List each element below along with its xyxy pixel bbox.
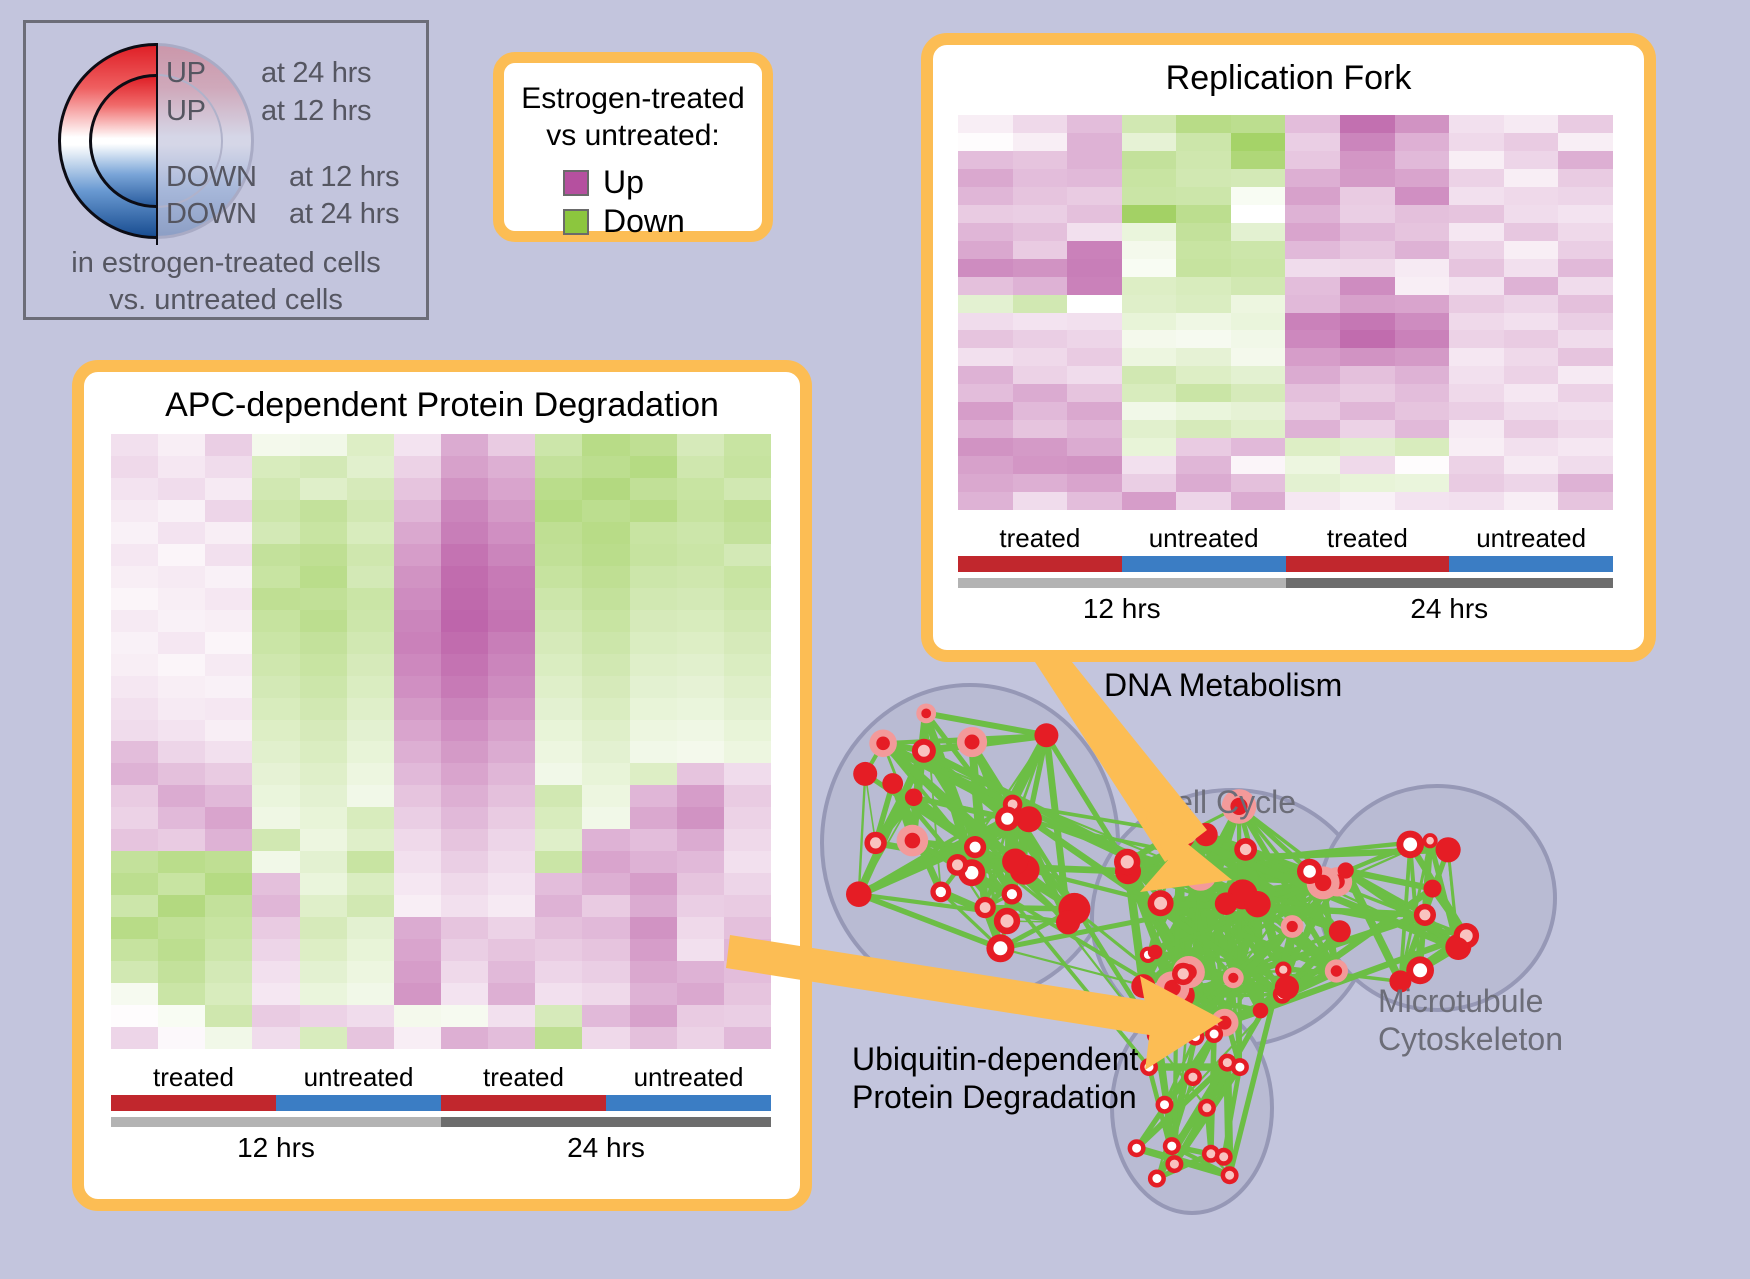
heatmap-cell bbox=[1067, 384, 1122, 402]
heatmap-cell bbox=[347, 1005, 394, 1027]
heatmap-cell bbox=[300, 720, 347, 742]
heatmap-cell bbox=[582, 763, 629, 785]
heatmap-cell bbox=[205, 500, 252, 522]
heatmap-cell bbox=[488, 676, 535, 698]
swatch-up-icon bbox=[563, 170, 589, 196]
heatmap-cell bbox=[158, 741, 205, 763]
heatmap-cell bbox=[582, 1027, 629, 1049]
heatmap-cell bbox=[441, 566, 488, 588]
swatch-down-icon bbox=[563, 209, 589, 235]
heatmap-cell bbox=[347, 654, 394, 676]
heatmap-cell bbox=[488, 873, 535, 895]
heatmap-apc-degradation bbox=[111, 434, 771, 1049]
heatmap-cell bbox=[394, 1027, 441, 1049]
heatmap-cell bbox=[1395, 205, 1450, 223]
heatmap-cell bbox=[1231, 492, 1286, 510]
heatmap-cell bbox=[1122, 115, 1177, 133]
heatmap-cell bbox=[1122, 420, 1177, 438]
heatmap-cell bbox=[158, 939, 205, 961]
network-node[interactable] bbox=[1287, 921, 1298, 932]
heatmap-cell bbox=[394, 676, 441, 698]
colorwheel-term-up-12: UP bbox=[166, 95, 206, 128]
heatmap-cell bbox=[394, 763, 441, 785]
heatmap-cell bbox=[488, 807, 535, 829]
heatmap-cell bbox=[677, 917, 724, 939]
heatmap-cell bbox=[630, 544, 677, 566]
heatmap-cell bbox=[111, 522, 158, 544]
axis-time-bar-rf-0 bbox=[958, 578, 1286, 588]
heatmap-cell bbox=[1395, 474, 1450, 492]
heatmap-cell bbox=[677, 478, 724, 500]
heatmap-cell bbox=[347, 939, 394, 961]
heatmap-cell bbox=[1558, 366, 1613, 384]
legend-item-up: Up bbox=[563, 164, 703, 201]
heatmap-cell bbox=[441, 807, 488, 829]
heatmap-cell bbox=[1504, 384, 1559, 402]
heatmap-cell bbox=[1013, 384, 1068, 402]
heatmap-cell bbox=[1340, 366, 1395, 384]
network-node[interactable] bbox=[1148, 945, 1163, 960]
heatmap-cell bbox=[535, 983, 582, 1005]
axis-time-label-apc-0: 12 hrs bbox=[111, 1132, 441, 1164]
heatmap-cell bbox=[1176, 492, 1231, 510]
heatmap-cell bbox=[158, 500, 205, 522]
heatmap-cell bbox=[394, 785, 441, 807]
heatmap-cell bbox=[1340, 474, 1395, 492]
heatmap-cell bbox=[1176, 187, 1231, 205]
heatmap-cell bbox=[1231, 241, 1286, 259]
network-node[interactable] bbox=[1228, 973, 1238, 983]
legend-item-up-label: Up bbox=[603, 164, 703, 201]
heatmap-cell bbox=[630, 698, 677, 720]
heatmap-cell bbox=[158, 676, 205, 698]
heatmap-cell bbox=[252, 500, 299, 522]
heatmap-cell bbox=[347, 720, 394, 742]
heatmap-cell bbox=[394, 632, 441, 654]
network-node-core bbox=[1145, 1063, 1154, 1072]
heatmap-cell bbox=[724, 961, 771, 983]
heatmap-cell bbox=[441, 500, 488, 522]
network-node[interactable] bbox=[905, 789, 923, 807]
heatmap-cell bbox=[111, 961, 158, 983]
heatmap-cell bbox=[252, 829, 299, 851]
heatmap-cell bbox=[582, 961, 629, 983]
heatmap-cell bbox=[958, 348, 1013, 366]
network-node-core bbox=[1202, 1103, 1211, 1112]
network-node-core bbox=[1219, 1152, 1228, 1161]
heatmap-cell bbox=[630, 961, 677, 983]
heatmap-cell bbox=[724, 807, 771, 829]
heatmap-cell bbox=[1395, 115, 1450, 133]
heatmap-cell bbox=[1013, 187, 1068, 205]
network-node[interactable] bbox=[1275, 975, 1299, 999]
heatmap-cell bbox=[300, 500, 347, 522]
heatmap-cell bbox=[111, 456, 158, 478]
heatmap-cell bbox=[1285, 384, 1340, 402]
heatmap-cell bbox=[1395, 277, 1450, 295]
heatmap-cell bbox=[252, 632, 299, 654]
heatmap-cell bbox=[441, 654, 488, 676]
network-node[interactable] bbox=[853, 762, 877, 786]
network-node[interactable] bbox=[1056, 910, 1080, 934]
heatmap-cell bbox=[630, 895, 677, 917]
heatmap-cell bbox=[1067, 133, 1122, 151]
heatmap-cell bbox=[582, 741, 629, 763]
heatmap-cell bbox=[582, 698, 629, 720]
heatmap-cell bbox=[252, 654, 299, 676]
heatmap-cell bbox=[1231, 366, 1286, 384]
updown-legend-title: Estrogen-treated vs untreated: bbox=[504, 81, 762, 154]
heatmap-cell bbox=[1176, 348, 1231, 366]
heatmap-cell bbox=[158, 1027, 205, 1049]
network-node[interactable] bbox=[921, 709, 931, 719]
heatmap-cell bbox=[205, 610, 252, 632]
panel-replication-fork-title: Replication Fork bbox=[933, 59, 1644, 98]
heatmap-cell bbox=[582, 851, 629, 873]
heatmap-cell bbox=[205, 654, 252, 676]
heatmap-cell bbox=[1176, 384, 1231, 402]
network-node[interactable] bbox=[882, 773, 903, 794]
heatmap-cell bbox=[582, 632, 629, 654]
heatmap-cell bbox=[958, 474, 1013, 492]
heatmap-cell bbox=[1013, 402, 1068, 420]
heatmap-cell bbox=[1395, 295, 1450, 313]
heatmap-cell bbox=[1231, 115, 1286, 133]
colorwheel-legend: UP at 24 hrs UP at 12 hrs DOWN at 12 hrs… bbox=[23, 20, 429, 320]
heatmap-cell bbox=[205, 961, 252, 983]
heatmap-cell bbox=[1558, 313, 1613, 331]
heatmap-cell bbox=[630, 456, 677, 478]
colorwheel-footer-line2: vs. untreated cells bbox=[26, 282, 426, 319]
heatmap-cell bbox=[488, 939, 535, 961]
heatmap-cell bbox=[1504, 295, 1559, 313]
colorwheel-time-down-24: at 24 hrs bbox=[289, 198, 399, 231]
network-node-core bbox=[1419, 909, 1430, 920]
heatmap-cell bbox=[677, 676, 724, 698]
heatmap-cell bbox=[724, 983, 771, 1005]
heatmap-cell bbox=[724, 676, 771, 698]
heatmap-cell bbox=[724, 895, 771, 917]
network-node[interactable] bbox=[1034, 723, 1058, 747]
heatmap-cell bbox=[535, 851, 582, 873]
heatmap-cell bbox=[1285, 295, 1340, 313]
heatmap-cell bbox=[394, 939, 441, 961]
axis-group-bar-rf bbox=[958, 556, 1613, 572]
heatmap-cell bbox=[347, 983, 394, 1005]
network-node[interactable] bbox=[1194, 823, 1217, 846]
heatmap-cell bbox=[958, 187, 1013, 205]
heatmap-cell bbox=[535, 720, 582, 742]
heatmap-cell bbox=[1013, 295, 1068, 313]
network-node[interactable] bbox=[876, 737, 890, 751]
heatmap-cell bbox=[1504, 205, 1559, 223]
heatmap-cell bbox=[1231, 295, 1286, 313]
heatmap-cell bbox=[1558, 223, 1613, 241]
heatmap-cell bbox=[300, 1027, 347, 1049]
heatmap-cell bbox=[347, 917, 394, 939]
heatmap-cell bbox=[205, 939, 252, 961]
heatmap-cell bbox=[158, 917, 205, 939]
heatmap-cell bbox=[205, 720, 252, 742]
cluster-label-ubiquitin-degradation: Ubiquitin-dependent Protein Degradation bbox=[852, 1040, 1138, 1117]
heatmap-cell bbox=[1449, 295, 1504, 313]
heatmap-cell bbox=[488, 522, 535, 544]
updown-legend-title-line1: Estrogen-treated bbox=[504, 81, 762, 118]
network-node[interactable] bbox=[965, 735, 980, 750]
colorwheel-time-down-12: at 12 hrs bbox=[289, 161, 399, 194]
heatmap-cell bbox=[441, 785, 488, 807]
heatmap-cell bbox=[630, 1005, 677, 1027]
heatmap-cell bbox=[300, 588, 347, 610]
heatmap-cell bbox=[347, 785, 394, 807]
network-node[interactable] bbox=[846, 881, 872, 907]
heatmap-cell bbox=[724, 829, 771, 851]
heatmap-cell bbox=[441, 610, 488, 632]
heatmap-cell bbox=[252, 939, 299, 961]
heatmap-cell bbox=[1285, 330, 1340, 348]
heatmap-cell bbox=[1122, 366, 1177, 384]
heatmap-cell bbox=[1449, 330, 1504, 348]
heatmap-cell bbox=[535, 829, 582, 851]
heatmap-cell bbox=[1013, 420, 1068, 438]
heatmap-cell bbox=[111, 434, 158, 456]
heatmap-cell bbox=[535, 610, 582, 632]
heatmap-cell bbox=[252, 698, 299, 720]
heatmap-cell bbox=[630, 763, 677, 785]
heatmap-cell bbox=[1285, 402, 1340, 420]
axis-time-labels-apc: 12 hrs 24 hrs bbox=[111, 1132, 771, 1164]
heatmap-cell bbox=[347, 676, 394, 698]
heatmap-cell bbox=[1285, 492, 1340, 510]
heatmap-cell bbox=[535, 763, 582, 785]
heatmap-cell bbox=[1558, 169, 1613, 187]
network-node-core bbox=[936, 887, 946, 897]
heatmap-cell bbox=[158, 785, 205, 807]
heatmap-cell bbox=[677, 610, 724, 632]
heatmap-cell bbox=[1395, 187, 1450, 205]
heatmap-cell bbox=[630, 983, 677, 1005]
heatmap-cell bbox=[111, 698, 158, 720]
heatmap-cell bbox=[441, 851, 488, 873]
heatmap-cell bbox=[582, 917, 629, 939]
network-node-core bbox=[1235, 1063, 1244, 1072]
heatmap-cell bbox=[582, 544, 629, 566]
heatmap-cell bbox=[347, 807, 394, 829]
axis-apc-degradation: treated untreated treated untreated 12 h… bbox=[111, 1062, 771, 1164]
axis-time-label-apc-1: 24 hrs bbox=[441, 1132, 771, 1164]
network-node-core bbox=[1170, 1160, 1179, 1169]
heatmap-cell bbox=[677, 741, 724, 763]
heatmap-cell bbox=[1231, 259, 1286, 277]
heatmap-cell bbox=[677, 522, 724, 544]
axis-time-bar-apc bbox=[111, 1117, 771, 1127]
heatmap-cell bbox=[1067, 330, 1122, 348]
cluster-label-microtubule-cytoskeleton: Microtubule Cytoskeleton bbox=[1378, 982, 1563, 1059]
heatmap-cell bbox=[1340, 241, 1395, 259]
heatmap-cell bbox=[958, 133, 1013, 151]
heatmap-cell bbox=[1122, 295, 1177, 313]
heatmap-cell bbox=[441, 983, 488, 1005]
heatmap-cell bbox=[394, 698, 441, 720]
heatmap-cell bbox=[1449, 402, 1504, 420]
network-node[interactable] bbox=[905, 833, 921, 849]
heatmap-cell bbox=[300, 983, 347, 1005]
heatmap-cell bbox=[1013, 348, 1068, 366]
heatmap-cell bbox=[1285, 259, 1340, 277]
heatmap-cell bbox=[1176, 295, 1231, 313]
colorwheel-footer: in estrogen-treated cells vs. untreated … bbox=[26, 245, 426, 319]
cluster-label-microtubule: Microtubule bbox=[1378, 982, 1563, 1020]
heatmap-cell bbox=[724, 939, 771, 961]
network-node[interactable] bbox=[1424, 880, 1442, 898]
heatmap-cell bbox=[300, 873, 347, 895]
heatmap-cell bbox=[488, 1005, 535, 1027]
heatmap-cell bbox=[347, 895, 394, 917]
heatmap-cell bbox=[394, 544, 441, 566]
network-node[interactable] bbox=[1436, 837, 1461, 862]
heatmap-cell bbox=[630, 654, 677, 676]
heatmap-cell bbox=[630, 610, 677, 632]
heatmap-cell bbox=[1285, 438, 1340, 456]
network-node[interactable] bbox=[1447, 937, 1469, 959]
heatmap-cell bbox=[1449, 384, 1504, 402]
network-node[interactable] bbox=[1331, 965, 1342, 976]
heatmap-cell bbox=[394, 1005, 441, 1027]
heatmap-cell bbox=[1395, 402, 1450, 420]
heatmap-cell bbox=[347, 500, 394, 522]
heatmap-cell bbox=[441, 676, 488, 698]
heatmap-cell bbox=[300, 698, 347, 720]
heatmap-cell bbox=[252, 456, 299, 478]
heatmap-cell bbox=[1395, 420, 1450, 438]
heatmap-cell bbox=[724, 632, 771, 654]
heatmap-cell bbox=[1340, 205, 1395, 223]
heatmap-cell bbox=[1449, 438, 1504, 456]
axis-group-bar-rf-0 bbox=[958, 556, 1122, 572]
network-node[interactable] bbox=[1244, 891, 1270, 917]
heatmap-cell bbox=[1558, 348, 1613, 366]
heatmap-cell bbox=[535, 566, 582, 588]
heatmap-cell bbox=[1285, 456, 1340, 474]
heatmap-cell bbox=[724, 785, 771, 807]
heatmap-cell bbox=[111, 851, 158, 873]
heatmap-cell bbox=[1504, 420, 1559, 438]
axis-group-bar-rf-1 bbox=[1122, 556, 1286, 572]
colorwheel-time-up-24: at 24 hrs bbox=[261, 57, 371, 90]
axis-time-bar-rf bbox=[958, 578, 1613, 588]
network-node[interactable] bbox=[1338, 862, 1354, 878]
heatmap-cell bbox=[158, 895, 205, 917]
heatmap-cell bbox=[1504, 438, 1559, 456]
heatmap-cell bbox=[724, 522, 771, 544]
network-node-core bbox=[1167, 1142, 1176, 1151]
heatmap-cell bbox=[111, 654, 158, 676]
heatmap-cell bbox=[394, 983, 441, 1005]
heatmap-cell bbox=[1176, 313, 1231, 331]
heatmap-cell bbox=[111, 588, 158, 610]
heatmap-cell bbox=[1340, 313, 1395, 331]
heatmap-cell bbox=[111, 566, 158, 588]
heatmap-cell bbox=[724, 720, 771, 742]
heatmap-cell bbox=[1122, 241, 1177, 259]
heatmap-cell bbox=[1449, 259, 1504, 277]
heatmap-cell bbox=[1231, 420, 1286, 438]
heatmap-cell bbox=[394, 829, 441, 851]
heatmap-cell bbox=[1504, 492, 1559, 510]
network-node[interactable] bbox=[1329, 920, 1351, 942]
heatmap-cell bbox=[958, 402, 1013, 420]
network-node[interactable] bbox=[1131, 974, 1155, 998]
network-node-core bbox=[1303, 865, 1316, 878]
heatmap-cell bbox=[394, 873, 441, 895]
network-node[interactable] bbox=[1002, 849, 1028, 875]
heatmap-cell bbox=[535, 895, 582, 917]
axis-group-bar-apc-0 bbox=[111, 1095, 276, 1111]
heatmap-cell bbox=[1067, 277, 1122, 295]
network-node[interactable] bbox=[1193, 867, 1209, 883]
network-node[interactable] bbox=[1215, 892, 1238, 915]
heatmap-cell bbox=[724, 588, 771, 610]
heatmap-cell bbox=[111, 1005, 158, 1027]
network-node[interactable] bbox=[1253, 1003, 1269, 1019]
heatmap-cell bbox=[1122, 151, 1177, 169]
heatmap-cell bbox=[1504, 402, 1559, 420]
heatmap-cell bbox=[1067, 492, 1122, 510]
heatmap-cell bbox=[158, 698, 205, 720]
heatmap-cell bbox=[677, 785, 724, 807]
heatmap-cell bbox=[677, 763, 724, 785]
heatmap-cell bbox=[1558, 492, 1613, 510]
heatmap-cell bbox=[1504, 151, 1559, 169]
colorwheel-footer-line1: in estrogen-treated cells bbox=[26, 245, 426, 282]
heatmap-cell bbox=[535, 654, 582, 676]
heatmap-cell bbox=[677, 654, 724, 676]
heatmap-cell bbox=[630, 632, 677, 654]
heatmap-cell bbox=[1231, 474, 1286, 492]
heatmap-cell bbox=[300, 763, 347, 785]
heatmap-cell bbox=[300, 610, 347, 632]
heatmap-cell bbox=[958, 169, 1013, 187]
heatmap-cell bbox=[1013, 223, 1068, 241]
heatmap-cell bbox=[158, 873, 205, 895]
heatmap-cell bbox=[677, 720, 724, 742]
heatmap-cell bbox=[1558, 438, 1613, 456]
updown-legend-title-line2: vs untreated: bbox=[504, 118, 762, 155]
heatmap-cell bbox=[300, 434, 347, 456]
heatmap-cell bbox=[535, 961, 582, 983]
heatmap-cell bbox=[394, 807, 441, 829]
heatmap-cell bbox=[958, 223, 1013, 241]
network-node-core bbox=[970, 842, 981, 853]
heatmap-cell bbox=[958, 420, 1013, 438]
heatmap-cell bbox=[205, 873, 252, 895]
heatmap-cell bbox=[1231, 384, 1286, 402]
heatmap-cell bbox=[958, 366, 1013, 384]
heatmap-cell bbox=[1558, 133, 1613, 151]
heatmap-cell bbox=[1504, 115, 1559, 133]
network-node[interactable] bbox=[1182, 828, 1192, 838]
heatmap-cell bbox=[1013, 241, 1068, 259]
heatmap-cell bbox=[111, 895, 158, 917]
heatmap-cell bbox=[111, 500, 158, 522]
heatmap-cell bbox=[300, 851, 347, 873]
heatmap-cell bbox=[1504, 313, 1559, 331]
heatmap-cell bbox=[1122, 187, 1177, 205]
heatmap-cell bbox=[1013, 438, 1068, 456]
heatmap-cell bbox=[394, 456, 441, 478]
heatmap-cell bbox=[1449, 348, 1504, 366]
heatmap-cell bbox=[1013, 313, 1068, 331]
